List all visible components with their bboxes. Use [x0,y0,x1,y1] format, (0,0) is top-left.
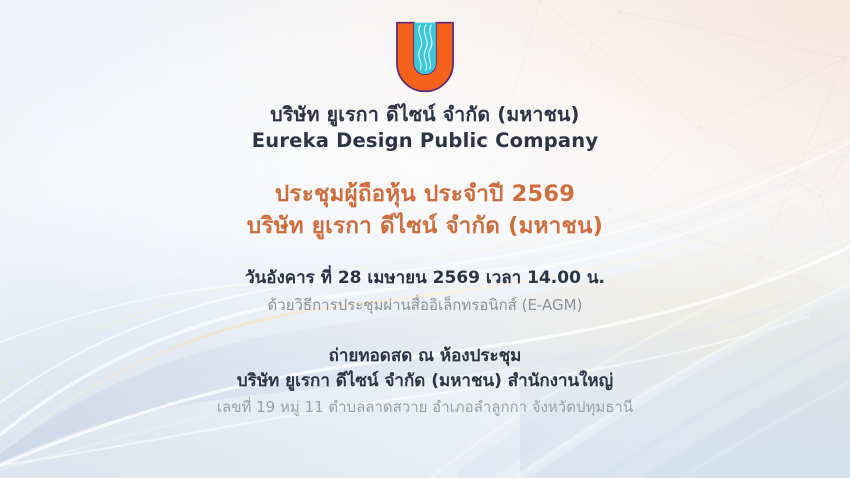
venue-address: เลขที่ 19 หมู่ 11 ตำบลลาดสวาย อำเภอลำลูก… [217,397,633,418]
company-name-english: Eureka Design Public Company [252,128,598,154]
venue-line-2: บริษัท ยูเรกา ดีไซน์ จำกัด (มหาชน) สำนัก… [217,369,633,394]
meeting-title-line-1: ประชุมผู้ถือหุ้น ประจำปี 2569 [247,179,603,211]
slide-content: บริษัท ยูเรกา ดีไซน์ จำกัด (มหาชน) Eurek… [0,0,850,478]
venue-block: ถ่ายทอดสด ณ ห้องประชุม บริษัท ยูเรกา ดีไ… [217,344,633,418]
eureka-u-logo [386,18,464,96]
meeting-title-line-2: บริษัท ยูเรกา ดีไซน์ จำกัด (มหาชน) [247,211,603,243]
meeting-method: ด้วยวิธีการประชุมผ่านสื่ออิเล็กทรอนิกส์ … [245,295,605,316]
meeting-datetime: วันอังคาร ที่ 28 เมษายน 2569 เวลา 14.00 … [245,267,605,291]
venue-line-1: ถ่ายทอดสด ณ ห้องประชุม [217,344,633,369]
company-name-block: บริษัท ยูเรกา ดีไซน์ จำกัด (มหาชน) Eurek… [252,102,598,153]
meeting-datetime-block: วันอังคาร ที่ 28 เมษายน 2569 เวลา 14.00 … [245,267,605,316]
meeting-title-block: ประชุมผู้ถือหุ้น ประจำปี 2569 บริษัท ยูเ… [247,179,603,243]
company-name-thai: บริษัท ยูเรกา ดีไซน์ จำกัด (มหาชน) [252,102,598,128]
announcement-slide: บริษัท ยูเรกา ดีไซน์ จำกัด (มหาชน) Eurek… [0,0,850,478]
